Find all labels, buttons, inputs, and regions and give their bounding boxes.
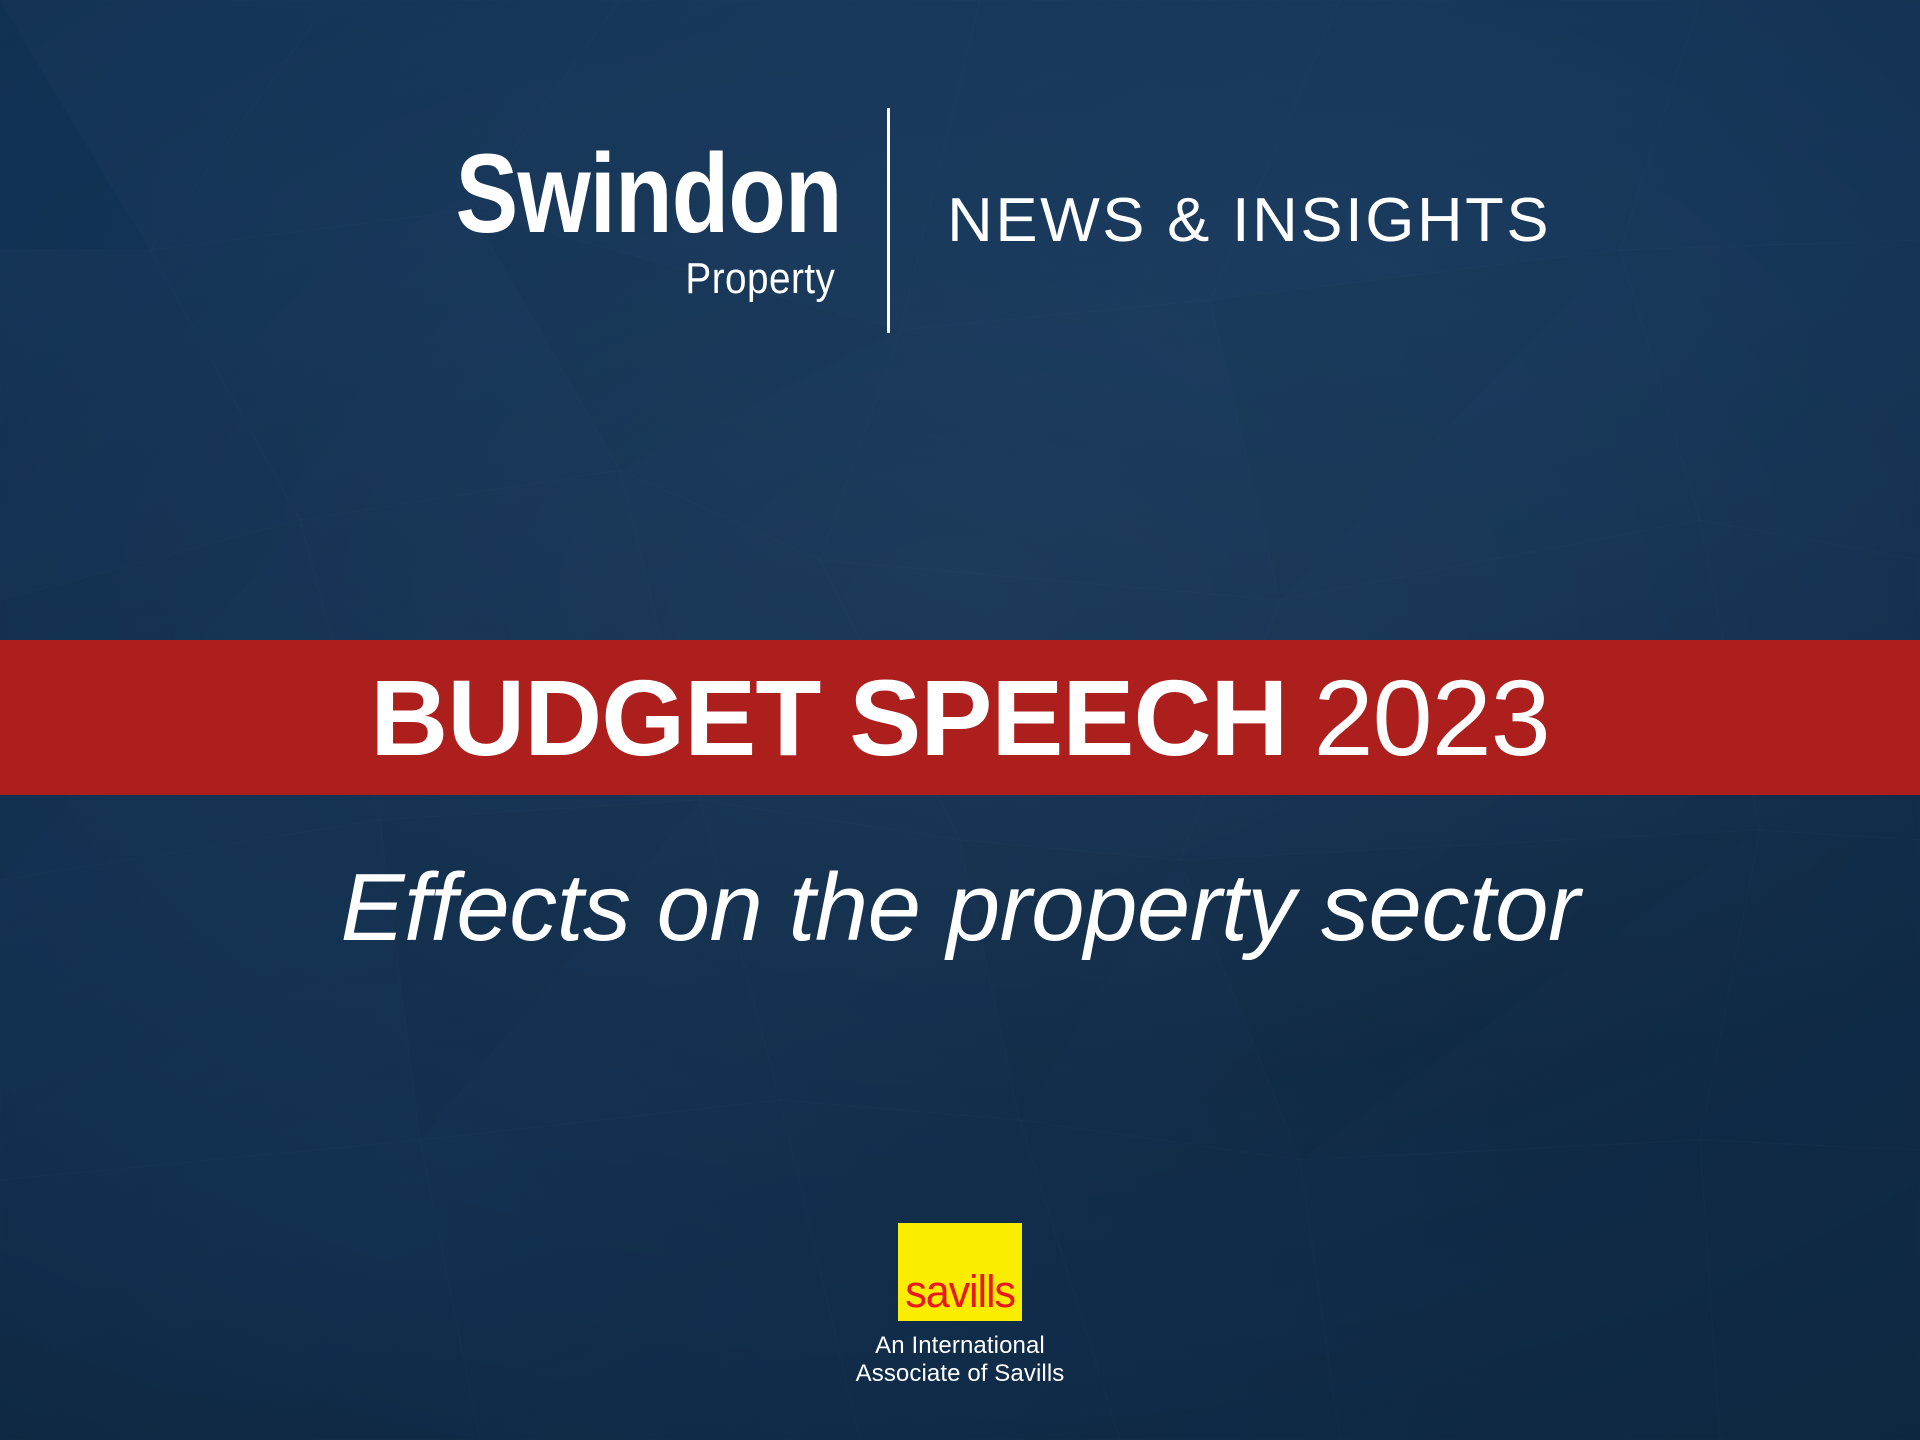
banner-title: BUDGET SPEECH 2023 <box>370 664 1549 772</box>
title-banner: BUDGET SPEECH 2023 <box>0 640 1920 795</box>
brand-name: Swindon <box>455 140 841 248</box>
savills-logo-mark: savills <box>898 1223 1022 1321</box>
brand-descriptor: Property <box>685 257 835 301</box>
savills-caption-line-1: An International <box>856 1332 1065 1360</box>
masthead: Swindon Property NEWS & INSIGHTS <box>0 108 1920 333</box>
savills-wordmark: savills <box>905 1269 1015 1321</box>
savills-caption-line-2: Associate of Savills <box>856 1360 1065 1388</box>
banner-title-year: 2023 <box>1313 664 1549 772</box>
banner-title-strong: BUDGET SPEECH <box>370 664 1287 772</box>
slide-subtitle: Effects on the property sector <box>0 858 1920 959</box>
savills-caption: An International Associate of Savills <box>856 1332 1065 1388</box>
brand-logo: Swindon Property <box>382 140 888 302</box>
savills-footer-logo: savills An International Associate of Sa… <box>0 1223 1920 1388</box>
masthead-tagline: NEWS & INSIGHTS <box>890 185 1551 256</box>
slide-canvas: Swindon Property NEWS & INSIGHTS BUDGET … <box>0 0 1920 1440</box>
